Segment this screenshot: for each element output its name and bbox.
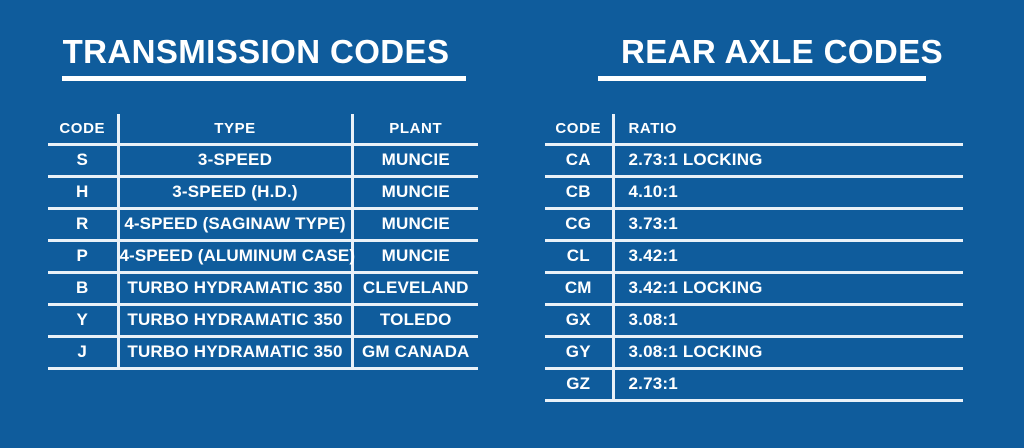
axle-cell-code: GZ (545, 368, 613, 400)
axle-cell-ratio: 3.73:1 (613, 208, 963, 240)
table-row: R 4-SPEED (SAGINAW TYPE) MUNCIE (48, 208, 478, 240)
axle-cell-code: GX (545, 304, 613, 336)
transmission-cell-type: TURBO HYDRAMATIC 350 (118, 336, 352, 368)
table-row: CA 2.73:1 LOCKING (545, 144, 963, 176)
axle-cell-ratio: 4.10:1 (613, 176, 963, 208)
table-row: Y TURBO HYDRAMATIC 350 TOLEDO (48, 304, 478, 336)
axle-cell-ratio: 2.73:1 (613, 368, 963, 400)
table-row: S 3-SPEED MUNCIE (48, 144, 478, 176)
transmission-col-header-type: TYPE (118, 114, 352, 144)
transmission-table-body: S 3-SPEED MUNCIE H 3-SPEED (H.D.) MUNCIE… (48, 144, 478, 368)
transmission-cell-code: R (48, 208, 118, 240)
transmission-cell-code: H (48, 176, 118, 208)
table-row: GY 3.08:1 LOCKING (545, 336, 963, 368)
rear-axle-codes-table: CODE RATIO CA 2.73:1 LOCKING CB 4.10:1 C… (545, 114, 963, 402)
transmission-cell-code: S (48, 144, 118, 176)
reference-chart-page: TRANSMISSION CODES CODE TYPE PLANT S 3-S… (0, 0, 1024, 448)
rear-axle-title: REAR AXLE CODES (572, 33, 992, 71)
axle-cell-code: CL (545, 240, 613, 272)
transmission-cell-type: TURBO HYDRAMATIC 350 (118, 272, 352, 304)
transmission-cell-plant: CLEVELAND (352, 272, 478, 304)
axle-table-body: CA 2.73:1 LOCKING CB 4.10:1 CG 3.73:1 CL… (545, 144, 963, 400)
axle-header-row: CODE RATIO (545, 114, 963, 144)
transmission-col-header-code: CODE (48, 114, 118, 144)
table-row: GZ 2.73:1 (545, 368, 963, 400)
transmission-title-underline (62, 76, 466, 81)
transmission-cell-plant: MUNCIE (352, 144, 478, 176)
transmission-cell-code: B (48, 272, 118, 304)
transmission-cell-plant: GM CANADA (352, 336, 478, 368)
table-row: CB 4.10:1 (545, 176, 963, 208)
transmission-cell-code: P (48, 240, 118, 272)
axle-cell-ratio: 2.73:1 LOCKING (613, 144, 963, 176)
table-row: GX 3.08:1 (545, 304, 963, 336)
axle-title-block: REAR AXLE CODES (572, 33, 992, 81)
axle-cell-code: GY (545, 336, 613, 368)
axle-cell-code: CB (545, 176, 613, 208)
table-row: CL 3.42:1 (545, 240, 963, 272)
table-row: J TURBO HYDRAMATIC 350 GM CANADA (48, 336, 478, 368)
table-row: P 4-SPEED (ALUMINUM CASE) MUNCIE (48, 240, 478, 272)
transmission-cell-code: J (48, 336, 118, 368)
axle-col-header-code: CODE (545, 114, 613, 144)
transmission-cell-plant: TOLEDO (352, 304, 478, 336)
transmission-cell-type: 3-SPEED (118, 144, 352, 176)
axle-cell-code: CM (545, 272, 613, 304)
table-row: B TURBO HYDRAMATIC 350 CLEVELAND (48, 272, 478, 304)
axle-col-header-ratio: RATIO (613, 114, 963, 144)
transmission-cell-type: TURBO HYDRAMATIC 350 (118, 304, 352, 336)
transmission-cell-type: 4-SPEED (ALUMINUM CASE) (118, 240, 352, 272)
axle-cell-code: CA (545, 144, 613, 176)
axle-cell-ratio: 3.42:1 LOCKING (613, 272, 963, 304)
axle-cell-ratio: 3.08:1 (613, 304, 963, 336)
table-row: H 3-SPEED (H.D.) MUNCIE (48, 176, 478, 208)
table-row: CG 3.73:1 (545, 208, 963, 240)
transmission-cell-type: 3-SPEED (H.D.) (118, 176, 352, 208)
transmission-cell-code: Y (48, 304, 118, 336)
transmission-cell-plant: MUNCIE (352, 176, 478, 208)
transmission-codes-table: CODE TYPE PLANT S 3-SPEED MUNCIE H 3-SPE… (48, 114, 478, 370)
axle-cell-ratio: 3.08:1 LOCKING (613, 336, 963, 368)
transmission-title-block: TRANSMISSION CODES (20, 33, 492, 81)
axle-cell-ratio: 3.42:1 (613, 240, 963, 272)
transmission-cell-plant: MUNCIE (352, 240, 478, 272)
transmission-cell-plant: MUNCIE (352, 208, 478, 240)
transmission-col-header-plant: PLANT (352, 114, 478, 144)
axle-cell-code: CG (545, 208, 613, 240)
transmission-cell-type: 4-SPEED (SAGINAW TYPE) (118, 208, 352, 240)
table-row: CM 3.42:1 LOCKING (545, 272, 963, 304)
transmission-header-row: CODE TYPE PLANT (48, 114, 478, 144)
rear-axle-title-underline (598, 76, 926, 81)
transmission-title: TRANSMISSION CODES (20, 33, 492, 71)
